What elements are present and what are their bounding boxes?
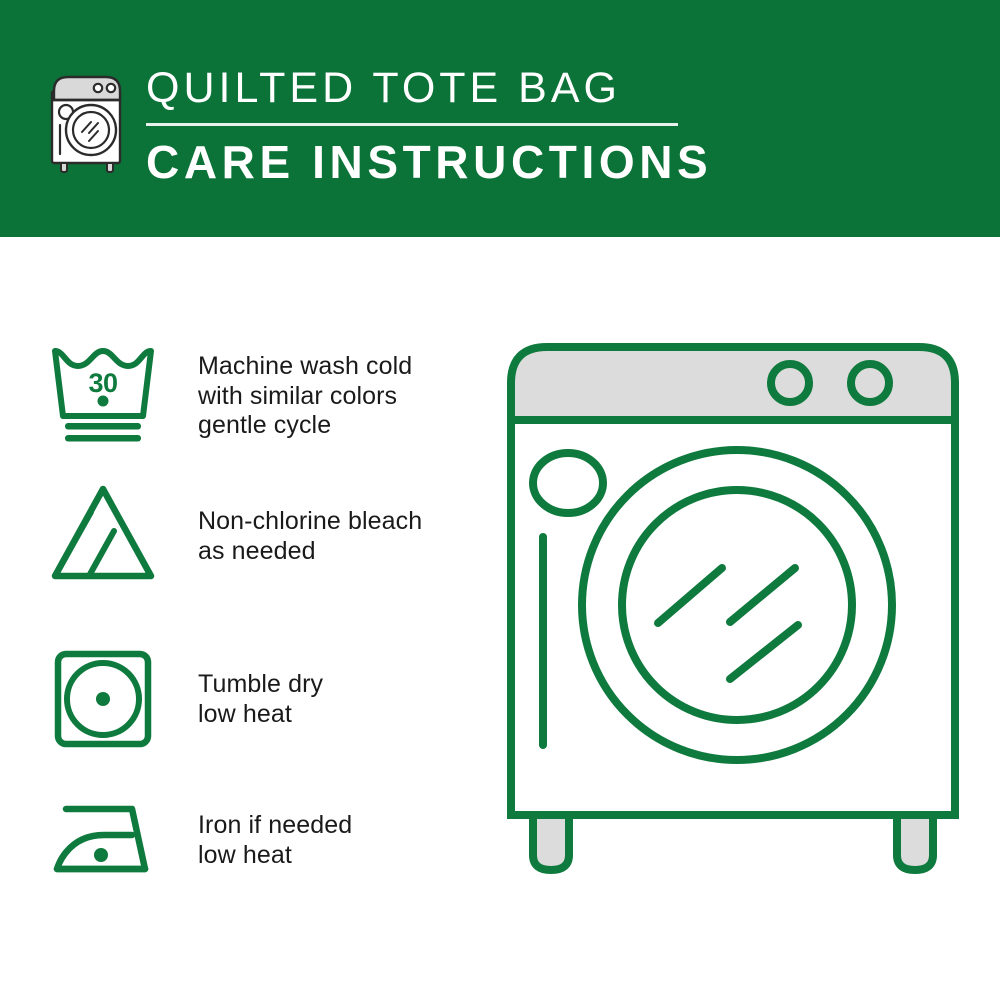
page-title-care-instructions: CARE INSTRUCTIONS xyxy=(146,135,906,189)
care-instruction-text: Machine wash cold with similar colors ge… xyxy=(198,338,480,441)
care-instruction-row: Tumble dry low heat xyxy=(0,642,480,754)
header-banner: QUILTED TOTE BAG CARE INSTRUCTIONS xyxy=(0,0,1000,237)
non-chlorine-bleach-triangle-symbol xyxy=(44,479,162,591)
tumble-dry-low-heat-symbol xyxy=(44,642,162,754)
page-title-product: QUILTED TOTE BAG xyxy=(146,62,906,114)
care-instruction-text: Tumble dry low heat xyxy=(198,642,480,729)
header-title-block: QUILTED TOTE BAG CARE INSTRUCTIONS xyxy=(146,62,906,192)
care-instruction-row: 30 Machine wash cold with similar colors… xyxy=(0,338,480,450)
care-instruction-text: Non-chlorine bleach as needed xyxy=(198,479,480,566)
care-instructions-page: QUILTED TOTE BAG CARE INSTRUCTIONS 30 xyxy=(0,0,1000,1000)
wash-tub-30-gentle-symbol: 30 xyxy=(44,338,162,450)
title-divider xyxy=(146,123,678,126)
care-instruction-text: Iron if needed low heat xyxy=(198,785,480,870)
care-instruction-row: Iron if needed low heat xyxy=(0,785,480,897)
washing-machine-illustration xyxy=(485,325,985,935)
washing-machine-icon xyxy=(44,68,136,172)
iron-low-heat-symbol xyxy=(44,785,162,897)
care-instruction-list: 30 Machine wash cold with similar colors… xyxy=(0,237,480,1000)
care-instruction-row: Non-chlorine bleach as needed xyxy=(0,479,480,591)
